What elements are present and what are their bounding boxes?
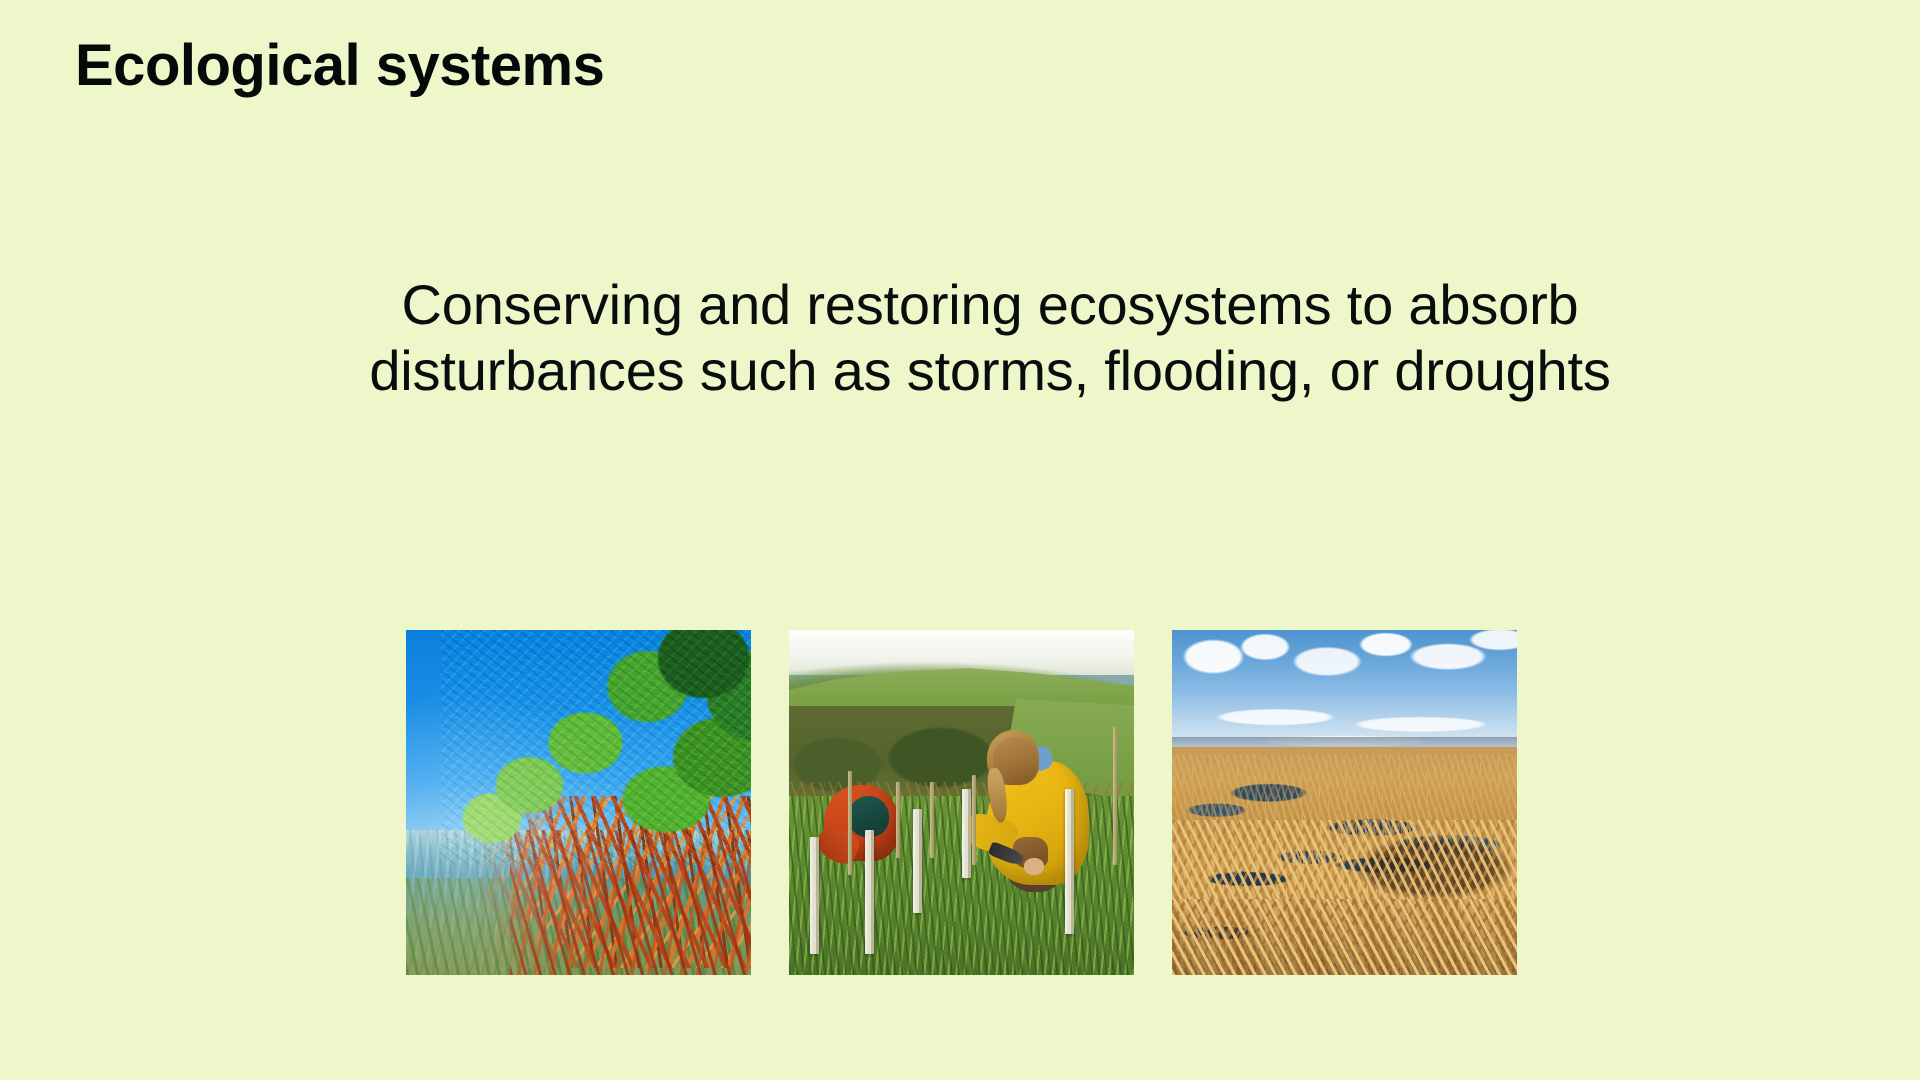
tree-planting-volunteers-photo <box>789 630 1134 975</box>
page-title: Ecological systems <box>75 32 604 100</box>
planting-stake <box>896 782 900 858</box>
slide-body-text: Conserving and restoring ecosystems to a… <box>190 272 1790 403</box>
body-line-1: Conserving and restoring ecosystems to a… <box>190 272 1790 338</box>
peat-bog-photo <box>1172 630 1517 975</box>
photo-strip <box>406 630 1516 975</box>
sun-glow-layer <box>406 630 751 975</box>
tree-guard-tube <box>1065 789 1074 934</box>
mangrove-shoreline-photo <box>406 630 751 975</box>
tree-guard-tube <box>865 830 874 954</box>
body-line-2: disturbances such as storms, flooding, o… <box>190 338 1790 404</box>
foreground-grass-layer <box>1172 899 1517 975</box>
planting-stake <box>930 782 934 858</box>
tree-guard-tube <box>810 837 819 954</box>
planting-stake <box>1113 727 1117 865</box>
clouds-layer <box>1172 630 1517 751</box>
slide-canvas: Ecological systems Conserving and restor… <box>0 0 1920 1080</box>
tree-guard-tube <box>962 789 971 879</box>
planting-stake <box>848 771 852 875</box>
planting-stake <box>972 775 976 865</box>
tree-guard-tube <box>913 809 922 913</box>
yellow-volunteer-hand <box>1024 858 1045 875</box>
